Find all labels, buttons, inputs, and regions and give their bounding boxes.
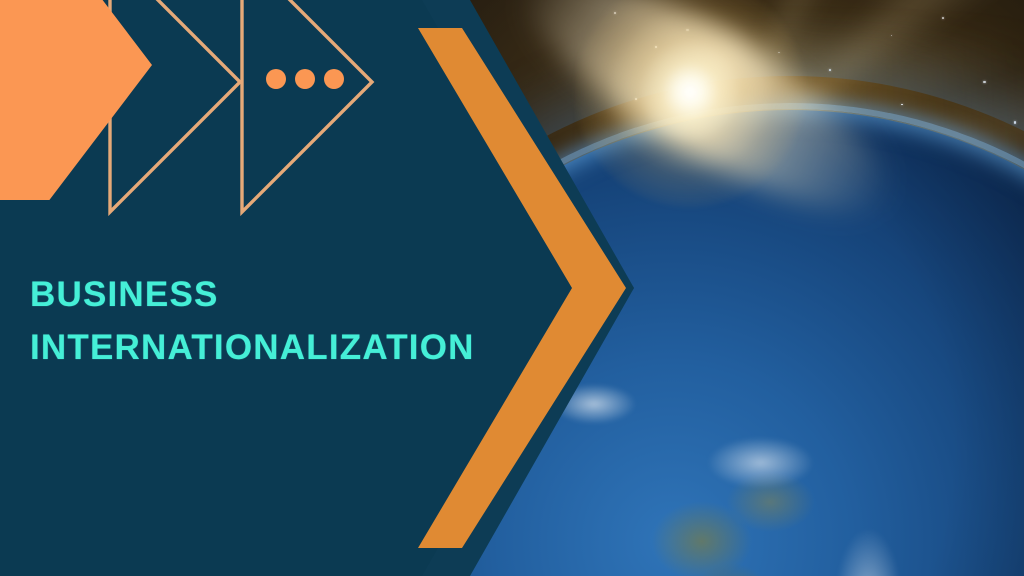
outline-chevron-icon-2 [150,0,410,226]
dot-3-icon [324,69,344,89]
dot-group [266,69,344,89]
slide-title: BUSINESS INTERNATIONALIZATION [30,268,550,374]
background-watermark [36,470,366,540]
slide-title-line-1: BUSINESS [30,275,219,314]
slide-canvas: BUSINESS INTERNATIONALIZATION [0,0,1024,576]
star [942,17,944,19]
dot-1-icon [266,69,286,89]
slide-title-line-2: INTERNATIONALIZATION [30,321,550,374]
star [829,69,831,71]
dot-2-icon [295,69,315,89]
star [891,35,893,37]
star [983,81,986,84]
